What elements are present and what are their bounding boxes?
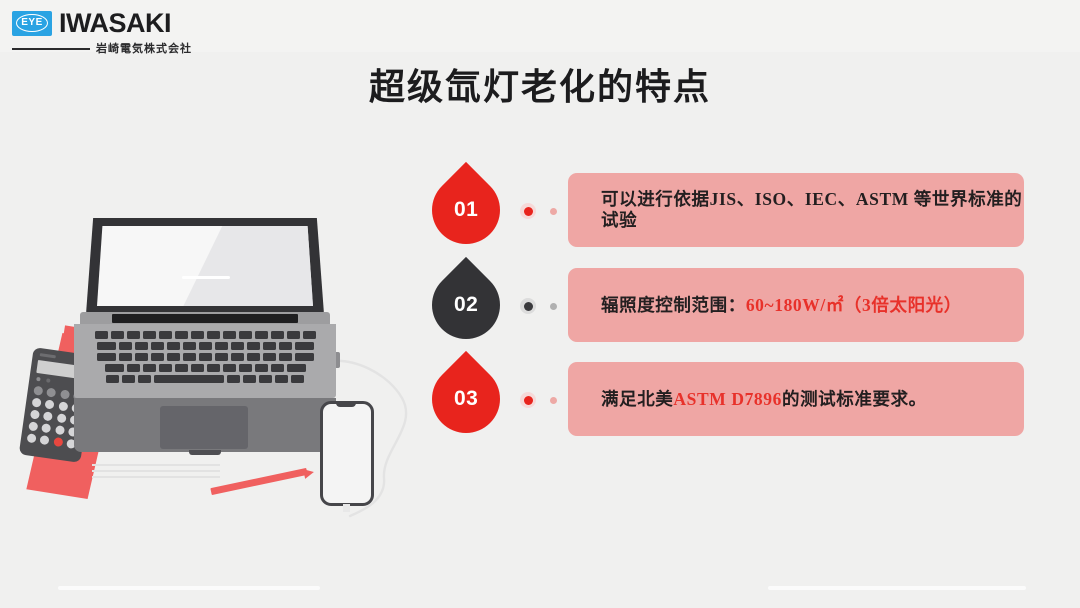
laptop-hinge-slot [112, 314, 298, 323]
decorative-line-left [58, 586, 320, 590]
eye-logo-icon: EYE [12, 11, 52, 36]
step-badge-03[interactable]: 03 [418, 351, 514, 447]
desk-line [92, 476, 220, 478]
calculator-key [58, 401, 68, 411]
step-badge-01[interactable]: 01 [418, 162, 514, 258]
connector-dot-large [520, 392, 536, 408]
smartphone-charging-plug [343, 504, 350, 512]
logo-wordmark: IWASAKI [59, 10, 171, 37]
laptop-front-notch [189, 450, 221, 455]
keyboard-row [88, 342, 322, 350]
feature-text-highlight: ASTM D7896 [673, 389, 782, 409]
calculator-key [40, 435, 50, 445]
feature-text-segment: 辐照度控制范围： [601, 295, 746, 315]
calculator-key [54, 425, 64, 435]
calculator-key [33, 386, 43, 396]
keyboard-row [88, 331, 322, 339]
feature-text-segment: 的测试标准要求。 [782, 389, 927, 409]
eye-logo-text: EYE [16, 14, 48, 32]
desk-line [92, 464, 220, 466]
connector-dot-small [550, 208, 557, 215]
calculator-brand-mark [40, 353, 56, 358]
feature-textbox-03[interactable]: 满足北美ASTM D7896的测试标准要求。 [568, 362, 1024, 436]
smartphone-illustration [320, 401, 374, 506]
keyboard-row [88, 364, 322, 372]
calculator-key [56, 413, 66, 423]
desk-workspace-illustration [14, 214, 434, 524]
logo-subtitle-row: 岩崎電気株式会社 [12, 42, 202, 56]
feature-textbox-02[interactable]: 辐照度控制范围：60~180W/㎡（3倍太阳光） [568, 268, 1024, 342]
calculator-key [28, 421, 38, 431]
step-badge-number: 02 [454, 293, 478, 317]
feature-textbox-01[interactable]: 可以进行依据JIS、ISO、IEC、ASTM 等世界标准的试验 [568, 173, 1024, 247]
calculator-indicator-b [46, 378, 51, 383]
calculator-key-equals [53, 437, 63, 447]
desk-line [92, 470, 220, 472]
decorative-line-right [768, 586, 1026, 590]
connector-dot-large [520, 298, 536, 314]
iwasaki-logo: EYE IWASAKI 岩崎電気株式会社 [12, 9, 202, 55]
calculator-key [43, 411, 53, 421]
feature-text-segment: 可以进行依据JIS、ISO、IEC、ASTM 等世界标准的试验 [601, 189, 1022, 230]
laptop-keyboard [88, 331, 322, 383]
connector-dot-small [550, 303, 557, 310]
connector-dot-small [550, 397, 557, 404]
feature-text-02: 辐照度控制范围：60~180W/㎡（3倍太阳光） [601, 295, 962, 316]
pencil-illustration [210, 468, 307, 495]
presentation-slide: EYE IWASAKI 岩崎電気株式会社 超级氙灯老化的特点 [0, 0, 1080, 608]
keyboard-row [88, 353, 322, 361]
feature-text-03: 满足北美ASTM D7896的测试标准要求。 [601, 389, 927, 410]
step-badge-number: 03 [454, 387, 478, 411]
feature-text-01: 可以进行依据JIS、ISO、IEC、ASTM 等世界标准的试验 [601, 189, 1024, 231]
smartphone-notch [336, 402, 356, 407]
slide-header-bar: EYE IWASAKI 岩崎電気株式会社 [0, 0, 1080, 52]
calculator-key [41, 423, 51, 433]
calculator-key [59, 389, 69, 399]
keyboard-row [88, 375, 322, 383]
logo-primary-row: EYE IWASAKI [12, 9, 202, 37]
calculator-key [45, 399, 55, 409]
feature-row: 03 满足北美ASTM D7896的测试标准要求。 [432, 362, 1032, 436]
feature-text-segment: 满足北美 [601, 389, 673, 409]
calculator-indicator-a [36, 377, 41, 382]
page-title: 超级氙灯老化的特点 [0, 58, 1080, 110]
pencil-tip [303, 467, 315, 479]
feature-row: 01 可以进行依据JIS、ISO、IEC、ASTM 等世界标准的试验 [432, 173, 1032, 247]
step-badge-number: 01 [454, 198, 478, 222]
logo-subtitle-text: 岩崎電気株式会社 [96, 44, 192, 55]
connector-dot-large [520, 203, 536, 219]
feature-row: 02 辐照度控制范围：60~180W/㎡（3倍太阳光） [432, 268, 1032, 342]
step-badge-02[interactable]: 02 [418, 257, 514, 353]
calculator-key [27, 433, 37, 443]
calculator-key [30, 409, 40, 419]
laptop-screen-placeholder-bar [182, 276, 230, 279]
calculator-key [32, 398, 42, 408]
feature-text-highlight: 60~180W/㎡（3倍太阳光） [746, 295, 962, 315]
calculator-key [46, 388, 56, 398]
laptop-trackpad [160, 406, 248, 449]
logo-divider-rule [12, 48, 90, 50]
